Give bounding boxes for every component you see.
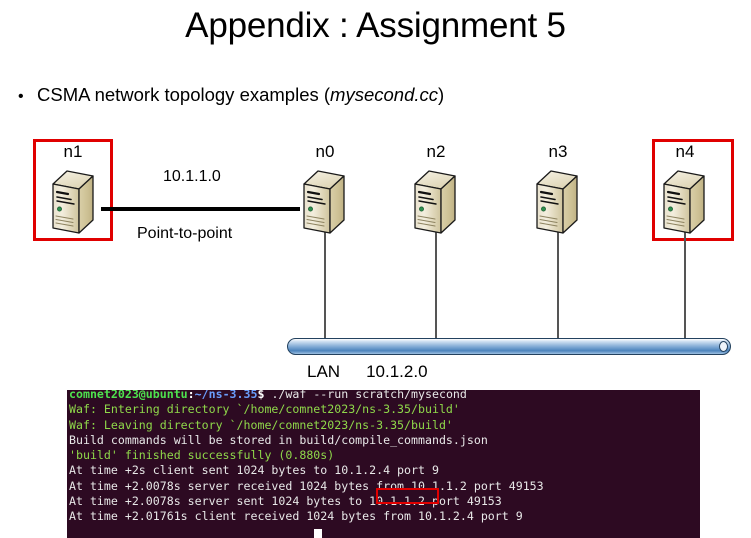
- lan-network-label: 10.1.2.0: [366, 362, 427, 381]
- drop-line-n0: [324, 230, 326, 340]
- terminal-line-build-commands: Build commands will be stored in build/c…: [67, 433, 700, 448]
- terminal-prompt-line: comnet2023@ubuntu:~/ns-3.35$ ./waf --run…: [67, 390, 700, 402]
- node-icon-n2: [412, 167, 458, 239]
- terminal-output-line-1: At time +2s client sent 1024 bytes to 10…: [67, 463, 700, 478]
- node-icon-n1: [50, 167, 96, 239]
- terminal-prompt-user: comnet2023@ubuntu: [69, 390, 188, 401]
- node-icon-n0: [301, 167, 347, 239]
- terminal-output-line-4: At time +2.01761s client received 1024 b…: [67, 509, 700, 524]
- terminal-prompt-colon: :: [188, 390, 195, 401]
- bullet-text-before: CSMA network topology examples (: [37, 84, 330, 105]
- node-label-n1: n1: [43, 143, 103, 161]
- terminal-prompt-path: ~/ns-3.35: [195, 390, 258, 401]
- terminal-window[interactable]: comnet2023@ubuntu:~/ns-3.35$ ./waf --run…: [67, 390, 700, 538]
- drop-line-n3: [557, 230, 559, 340]
- terminal-line-waf-entering: Waf: Entering directory `/home/comnet202…: [67, 402, 700, 417]
- lan-caption: LAN10.1.2.0: [307, 362, 428, 382]
- bullet-text-after: ): [438, 84, 444, 105]
- lan-bus: [287, 338, 731, 355]
- highlight-box-source-ip: [376, 488, 439, 504]
- p2p-link-line: [101, 207, 300, 211]
- node-label-n4: n4: [655, 143, 715, 161]
- bullet-emphasis: mysecond.cc: [330, 84, 438, 105]
- terminal-line-waf-leaving: Waf: Leaving directory `/home/comnet2023…: [67, 418, 700, 433]
- terminal-command: ./waf --run scratch/mysecond: [264, 390, 466, 401]
- bullet-text: CSMA network topology examples (mysecond…: [37, 84, 444, 106]
- bullet-item: • CSMA network topology examples (myseco…: [18, 84, 718, 106]
- p2p-link-type-label: Point-to-point: [137, 225, 232, 243]
- terminal-line-build-finished: 'build' finished successfully (0.880s): [67, 448, 700, 463]
- terminal-cursor: [314, 529, 322, 538]
- node-label-n0: n0: [295, 143, 355, 161]
- p2p-link-label: 10.1.1.0: [163, 168, 221, 186]
- node-icon-n4: [661, 167, 707, 239]
- drop-line-n2: [435, 230, 437, 340]
- lan-label: LAN: [307, 362, 340, 381]
- bullet-marker-icon: •: [18, 89, 37, 105]
- drop-line-n4: [684, 230, 686, 340]
- lan-bus-end-cap: [719, 341, 728, 352]
- node-label-n2: n2: [406, 143, 466, 161]
- node-icon-n3: [534, 167, 580, 239]
- page-title: Appendix : Assignment 5: [0, 4, 751, 48]
- node-label-n3: n3: [528, 143, 588, 161]
